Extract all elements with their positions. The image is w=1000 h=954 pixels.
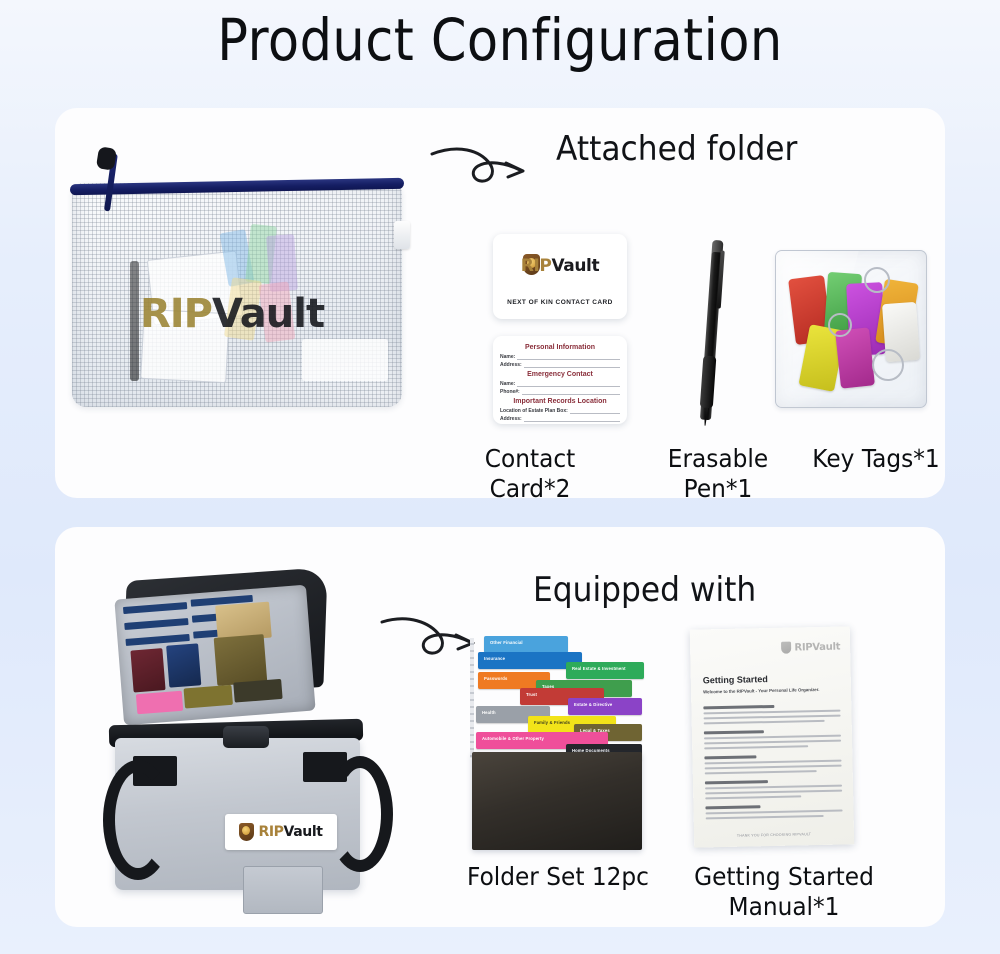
contact-card-logo-vault: Vault	[551, 256, 599, 276]
key-ring-2	[872, 349, 904, 381]
folder-set: Other Financial Insurance Real Estate & …	[470, 636, 646, 850]
folder-olive-tab	[184, 685, 233, 709]
manual-body	[703, 697, 843, 822]
pouch-logo-vault: Vault	[212, 291, 324, 337]
folder-tab-label: Trust	[526, 692, 537, 697]
field-row: Name:	[500, 381, 620, 387]
pen-grip	[700, 356, 717, 409]
folder-tab-label: Family & Friends	[534, 720, 570, 725]
contact-card-back: Personal Information Name: Address: Emer…	[493, 336, 627, 424]
field-label: Phone#:	[500, 389, 520, 395]
passport-blue	[166, 643, 201, 687]
field-line	[517, 381, 620, 387]
page-title: Product Configuration	[60, 4, 940, 76]
pouch-body: RIPVault	[72, 183, 402, 407]
field-row: Phone#:	[500, 389, 620, 395]
bag-brand-label: RIPVault	[225, 814, 337, 850]
folder-tab: Other Financial	[484, 636, 568, 653]
key-ring-3	[828, 313, 852, 337]
manual-text-line	[704, 720, 825, 725]
curly-arrow-icon-top	[428, 132, 538, 192]
key-tags-bag	[775, 250, 927, 408]
bag-label-text: RIPVault	[258, 824, 322, 840]
folder-tab: Estate & Directive	[568, 698, 642, 715]
contact-card-subtitle: NEXT OF KIN CONTACT CARD	[493, 299, 627, 306]
folder-cover	[472, 752, 642, 850]
contact-card-logo: RIPVault	[493, 256, 627, 276]
contact-card-logo-rip: RIP	[521, 256, 552, 276]
field-label: Address:	[500, 416, 522, 422]
manual-text-line	[704, 715, 841, 720]
manual-text-line	[705, 789, 842, 794]
folder-pink	[136, 691, 183, 715]
field-label: Address:	[500, 362, 522, 368]
manual-title: Getting Started	[703, 674, 768, 685]
manual-text-line	[706, 815, 824, 820]
pouch-content-pen	[130, 261, 139, 381]
manual-subtitle: Welcome to the RIPVault - Your Personal …	[703, 687, 819, 694]
manual-section-heading	[705, 780, 768, 785]
getting-started-manual: RIPVault Getting Started Welcome to the …	[690, 626, 855, 847]
manual-text-line	[705, 795, 801, 799]
manual-logo-text: RIPVault	[794, 641, 840, 653]
field-group-heading: Important Records Location	[500, 398, 620, 405]
bag-document-pockets	[114, 585, 315, 726]
field-line	[524, 362, 620, 368]
manual-text-line	[706, 809, 843, 814]
field-line	[522, 389, 620, 395]
field-row: Address:	[500, 416, 620, 422]
shield-icon	[781, 642, 791, 654]
manual-text-line	[705, 760, 842, 765]
section-heading-equipped-with: Equipped with	[533, 570, 756, 610]
folder-tab: Real Estate & Investment	[566, 662, 644, 679]
manual-brand-logo: RIPVault	[781, 641, 840, 654]
folder-tab-label: Passwords	[484, 676, 507, 681]
field-label: Location of Estate Plan Box:	[500, 408, 568, 414]
folder-tab-label: Estate & Directive	[574, 702, 612, 707]
contact-card-fields: Personal Information Name: Address: Emer…	[500, 341, 620, 424]
caption-folder-set: Folder Set 12pc	[465, 862, 651, 892]
caption-erasable-pen: Erasable Pen*1	[634, 444, 801, 504]
passport-burgundy	[130, 648, 165, 692]
manual-logo-vault: Vault	[812, 641, 840, 653]
folder-tab-label: Real Estate & Investment	[572, 666, 626, 671]
pocket-slot	[124, 618, 188, 630]
contact-card-front: RIPVault NEXT OF KIN CONTACT CARD	[493, 234, 627, 319]
field-row: Address:	[500, 362, 620, 368]
field-label: Name:	[500, 381, 515, 387]
bag-lock	[223, 726, 269, 748]
bag-id-window	[243, 866, 323, 914]
field-group-heading: Emergency Contact	[500, 371, 620, 378]
field-label: Name:	[500, 354, 515, 360]
folder-tab-label: Automobile & Other Property	[482, 736, 544, 741]
field-row: Name:	[500, 354, 620, 360]
pouch-logo-rip: RIP	[140, 291, 212, 337]
bag-label-vault: Vault	[284, 824, 323, 840]
caption-key-tags: Key Tags*1	[811, 444, 941, 474]
field-row: Location of Estate Plan Box:	[500, 408, 620, 414]
manual-logo-rip: RIP	[794, 642, 812, 653]
poly-bag	[775, 250, 927, 408]
caption-contact-card: Contact Card*2	[442, 444, 619, 504]
manual-text-line	[704, 739, 841, 744]
folder-spine	[470, 638, 474, 758]
manual-footer: THANK YOU FOR CHOOSING RIPVAULT	[694, 831, 854, 838]
infographic-page: Product Configuration RIPVault Attac	[0, 0, 1000, 954]
bag-shoulder-strap-left	[103, 760, 173, 880]
manual-section-heading	[705, 805, 760, 809]
folder-tab-label: Insurance	[484, 656, 505, 661]
manual-section-heading	[704, 755, 756, 759]
field-line	[524, 416, 620, 422]
section-heading-attached-folder: Attached folder	[556, 129, 797, 169]
manual-text-line	[705, 764, 842, 769]
document-olive	[214, 634, 268, 686]
fireproof-document-bag: RIPVault	[95, 570, 385, 900]
key-ring-1	[864, 267, 890, 293]
pocket-slot	[123, 602, 187, 614]
caption-getting-started-manual: Getting Started Manual*1	[684, 862, 885, 922]
field-line	[570, 408, 620, 414]
shield-icon	[239, 823, 254, 841]
bag-label-rip: RIP	[258, 824, 283, 840]
manual-text-line	[705, 785, 842, 790]
field-group-heading: Personal Information	[500, 344, 620, 351]
folder-dark-tab	[233, 679, 282, 703]
pouch-side-tab	[394, 221, 410, 249]
folder-tab-label: Other Financial	[490, 640, 523, 645]
manual-section-heading	[704, 730, 764, 734]
mesh-zipper-pouch: RIPVault	[72, 155, 402, 407]
bag-shoulder-strap-right	[327, 756, 393, 872]
manual-text-line	[705, 770, 817, 775]
field-line	[517, 354, 620, 360]
pouch-logo: RIPVault	[140, 291, 324, 337]
pouch-content-label	[302, 339, 388, 381]
manual-section-heading	[703, 705, 774, 710]
folder-tab-label: Health	[482, 710, 496, 715]
manual-text-line	[704, 745, 808, 749]
